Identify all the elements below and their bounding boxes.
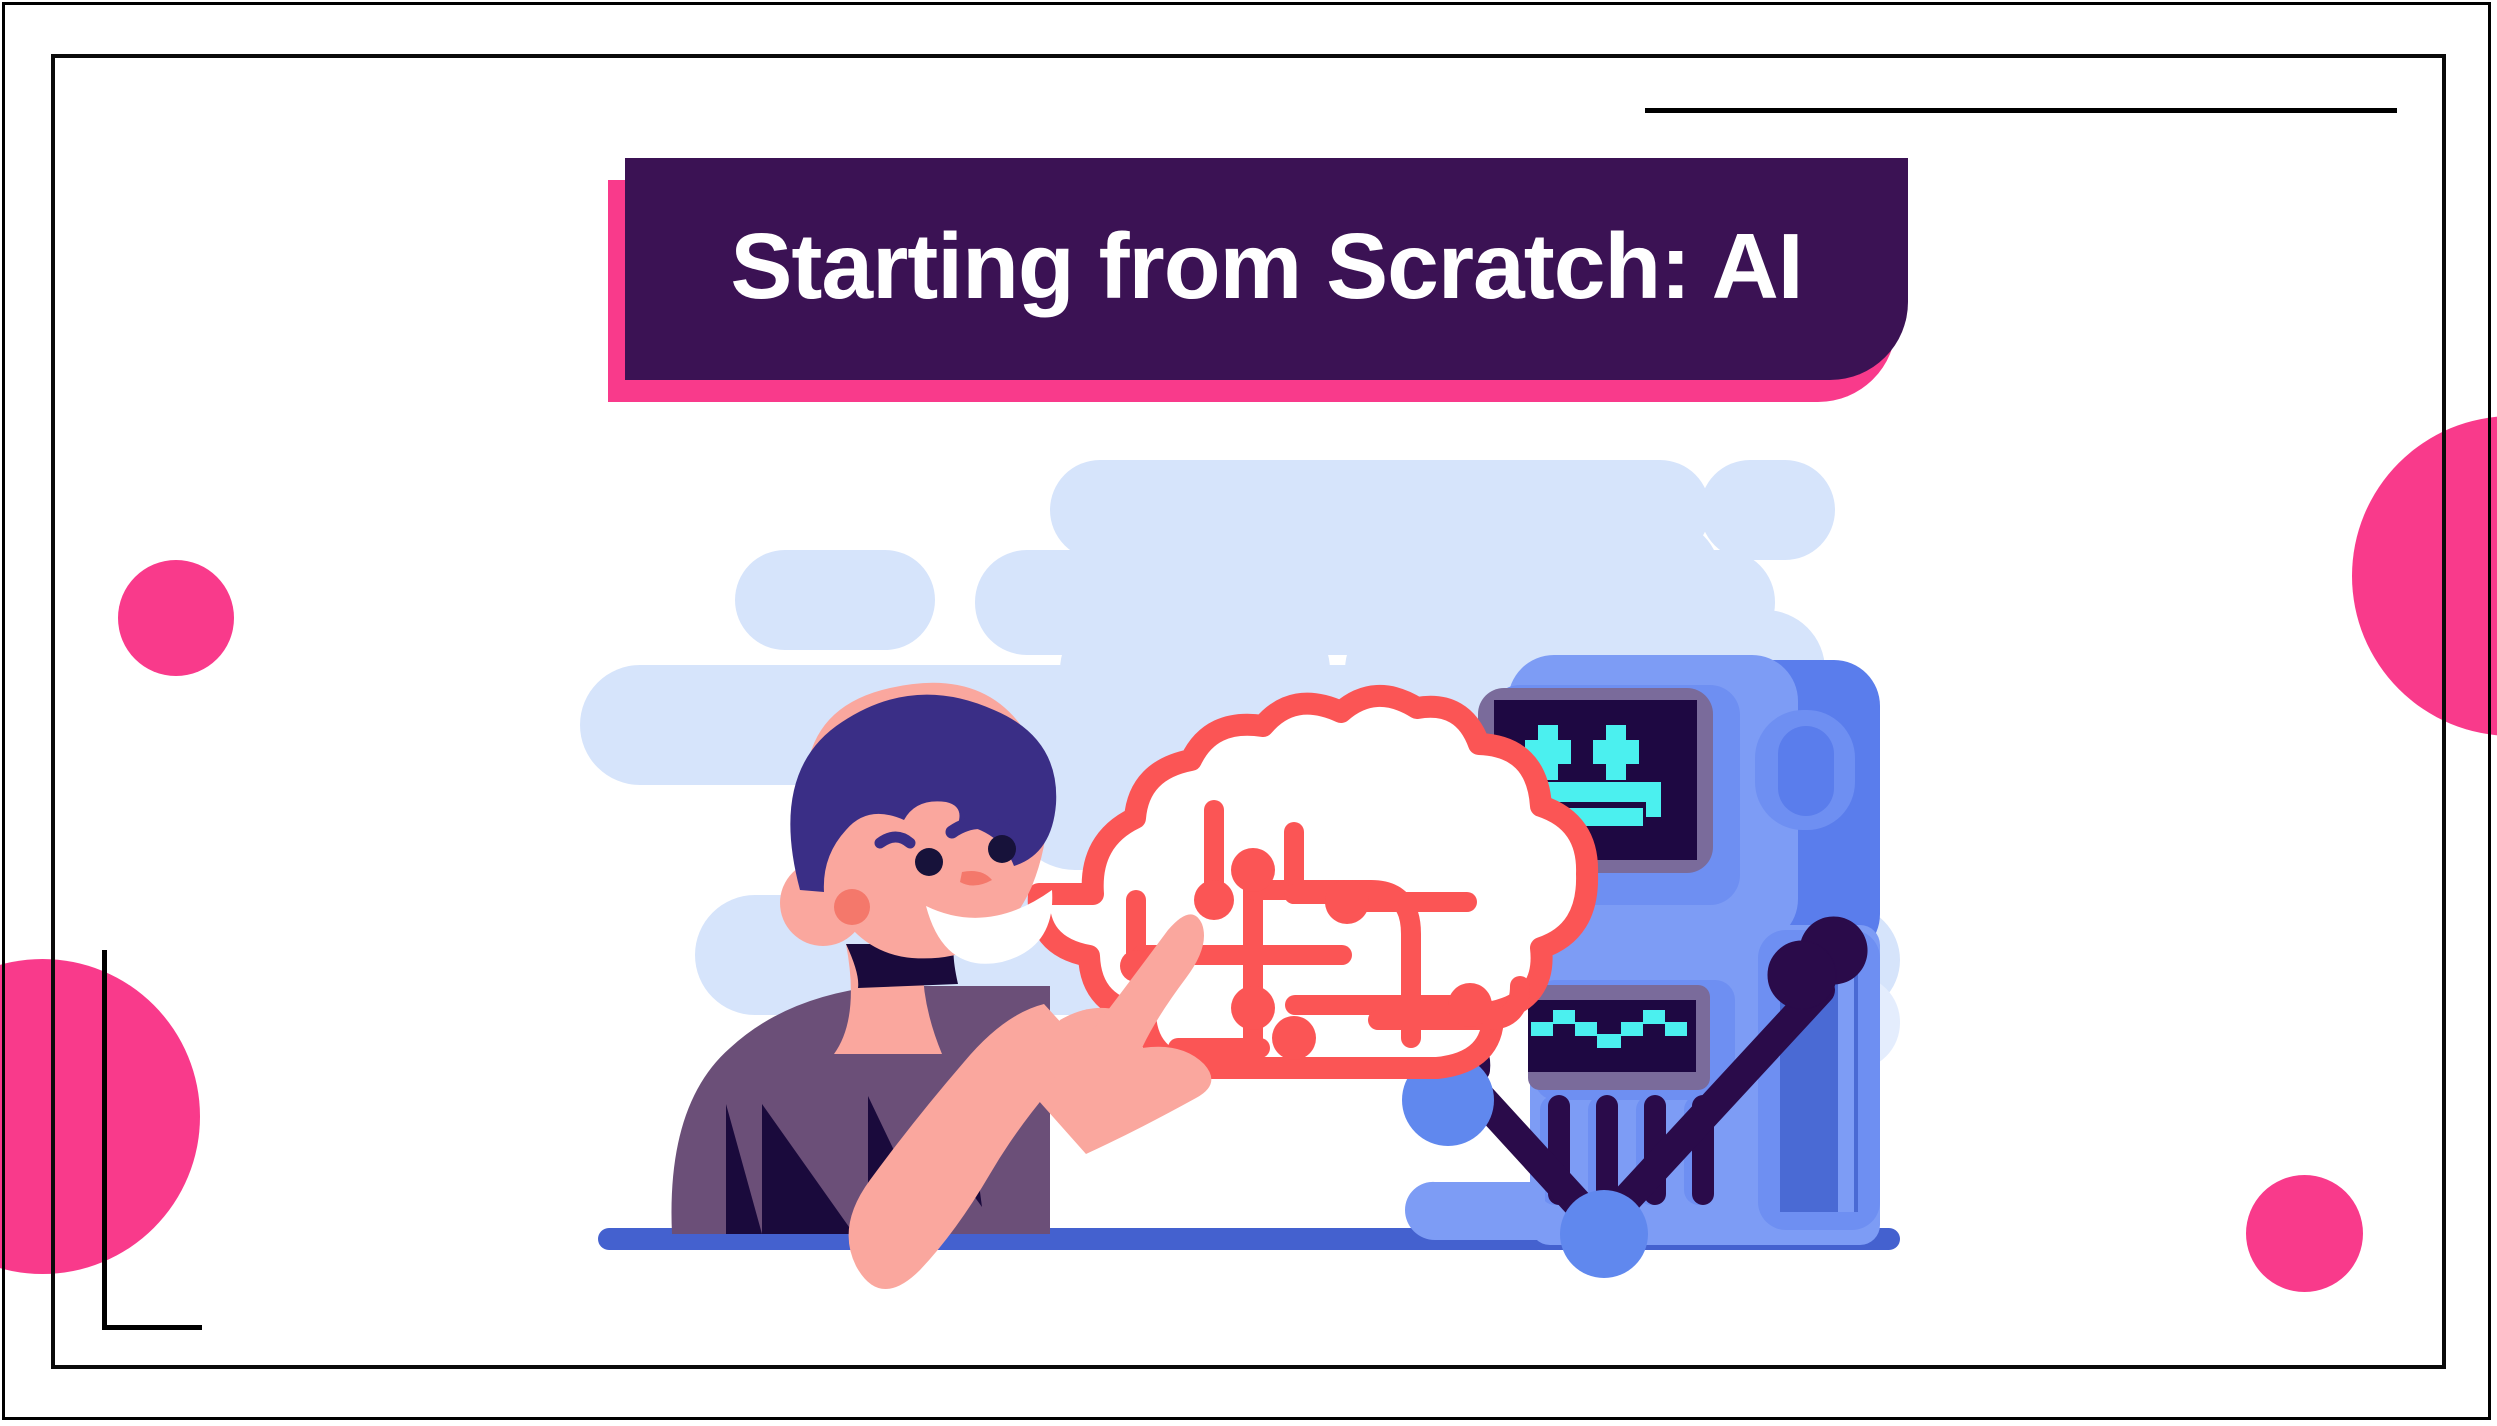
person-eye-left [915,848,943,876]
slide-title: Starting from Scratch: AI [730,213,1802,320]
decoration-circle-small-right [2246,1175,2363,1292]
slide-canvas: Starting from Scratch: AI [0,0,2497,1426]
decoration-line-top-right [1645,108,2397,113]
person-eye-right [988,835,1016,863]
title-banner: Starting from Scratch: AI [608,158,1908,398]
robot-hip-joint [1560,1190,1648,1278]
title-banner-body: Starting from Scratch: AI [625,158,1908,380]
decoration-circle-small-left [118,560,234,676]
decoration-corner-bracket-bottom-left [102,950,202,1330]
